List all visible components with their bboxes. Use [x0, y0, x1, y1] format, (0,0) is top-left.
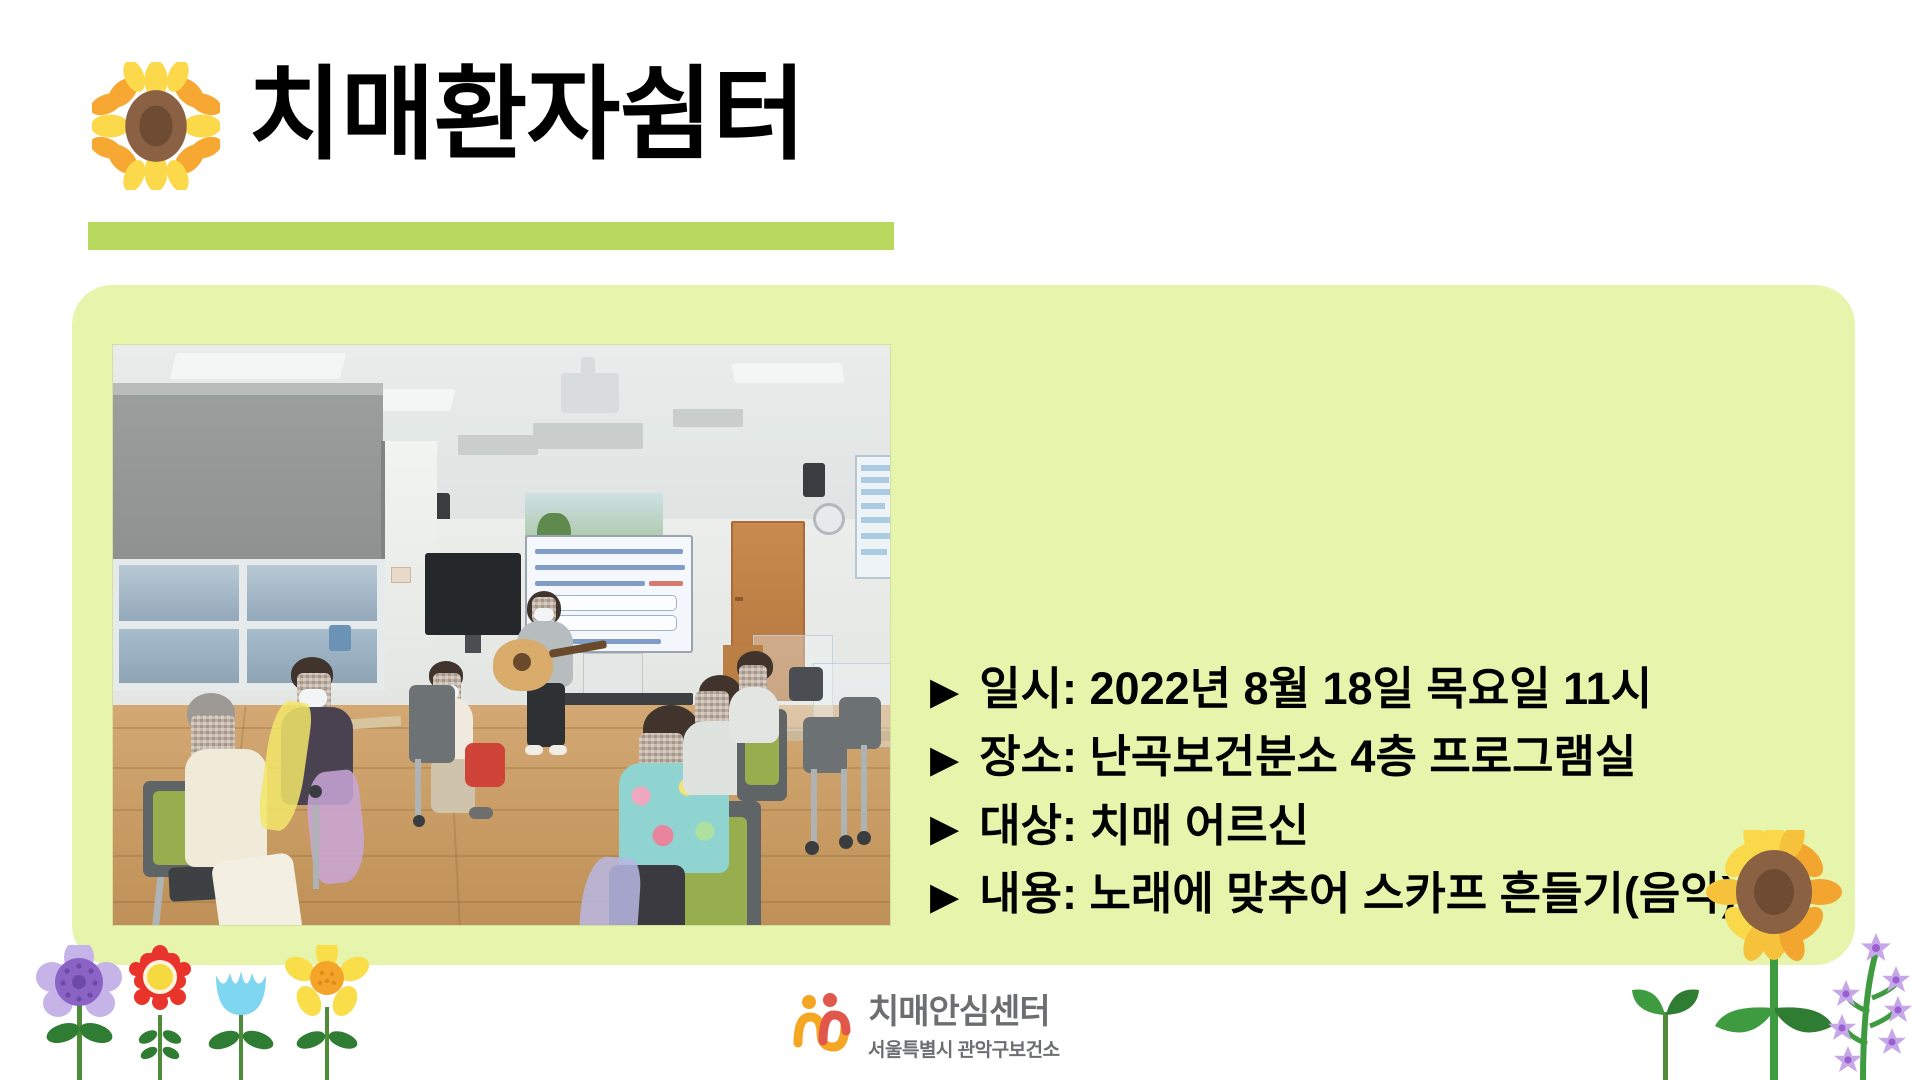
sprout-icon — [1632, 990, 1699, 1080]
logo-subtitle: 서울특별시 관악구보건소 — [868, 1035, 1060, 1062]
chart-row — [861, 533, 890, 539]
senior-body — [185, 749, 267, 867]
footer: 치매안심센터 서울특별시 관악구보건소 — [0, 930, 1920, 1080]
wall-clock — [813, 503, 845, 535]
screen-stand — [583, 653, 643, 695]
purple-flower-icon — [36, 945, 122, 1080]
info-item-location: ▶ 장소: 난곡보건분소 4층 프로그램실 — [930, 723, 1830, 791]
chair-leg — [415, 759, 421, 821]
chart-row — [861, 549, 887, 555]
chair-caster — [309, 785, 322, 798]
chair-caster — [805, 841, 819, 855]
yellow-flower-icon — [281, 945, 374, 1080]
screen-box — [547, 595, 677, 611]
logo-title: 치매안심센터 — [868, 984, 1060, 1033]
ceiling-panel — [673, 409, 743, 427]
chair-caster — [839, 835, 853, 849]
tv-monitor — [425, 553, 521, 635]
dementia-center-logo-icon — [790, 991, 854, 1055]
bullet-arrow-icon: ▶ — [930, 878, 959, 916]
bottle — [329, 625, 351, 651]
chair-leg — [811, 769, 817, 845]
window-pane — [119, 629, 239, 683]
chair-caster — [413, 815, 425, 827]
screen-text-line — [535, 549, 683, 554]
ceiling-panel — [458, 435, 538, 455]
red-flower-icon — [129, 945, 191, 1080]
senior-body — [729, 687, 779, 743]
projector — [561, 373, 619, 413]
stacked-chair — [839, 697, 881, 749]
chair-caster — [857, 831, 871, 845]
face-mask — [534, 608, 554, 621]
chart-row — [861, 503, 885, 509]
blue-tulip-icon — [206, 971, 276, 1080]
backpack — [789, 667, 823, 701]
projector-mount — [581, 357, 595, 375]
info-item-text: 장소: 난곡보건분소 4층 프로그램실 — [979, 723, 1636, 791]
shoe — [525, 745, 543, 755]
header: 치매환자쉼터 — [0, 0, 1920, 270]
wall-speaker — [803, 463, 825, 497]
info-item-datetime: ▶ 일시: 2022년 8월 18일 목요일 11시 — [930, 655, 1830, 723]
wall-chart — [855, 455, 890, 579]
chart-row — [861, 465, 890, 471]
ceiling-vent — [533, 423, 643, 449]
tv-stand — [465, 635, 481, 653]
footer-logo: 치매안심센터 서울특별시 관악구보건소 — [790, 984, 1060, 1062]
guitar-soundhole — [513, 653, 531, 671]
info-item-text: 일시: 2022년 8월 18일 목요일 11시 — [979, 655, 1652, 723]
window-pane — [119, 565, 239, 621]
chair-leg — [841, 769, 847, 839]
bullet-arrow-icon: ▶ — [930, 810, 959, 848]
shoe — [549, 745, 567, 755]
program-photo — [113, 345, 890, 925]
sunflower-icon — [1706, 830, 1842, 1080]
slide: 치매환자쉼터 — [0, 0, 1920, 1080]
red-bag — [465, 743, 505, 787]
chart-row — [861, 477, 889, 483]
window-pane — [247, 565, 377, 621]
chair-leg — [861, 745, 867, 837]
sunflower-icon — [92, 62, 220, 190]
chart-row — [861, 489, 890, 495]
title-underline-bar — [88, 222, 894, 250]
ceiling-light — [731, 363, 845, 383]
bullet-arrow-icon: ▶ — [930, 741, 959, 779]
instructor-pants — [527, 683, 565, 747]
shoe — [469, 807, 493, 819]
ceiling-light — [170, 353, 346, 379]
footer-flowers-right — [1620, 830, 1920, 1080]
screen-text-line — [535, 581, 645, 586]
door-handle — [735, 597, 743, 601]
chair-leg — [313, 805, 319, 889]
bullet-arrow-icon: ▶ — [930, 673, 959, 711]
wall-sign — [391, 567, 411, 583]
page-title: 치매환자쉼터 — [248, 52, 805, 180]
info-item-text: 대상: 치매 어르신 — [979, 792, 1309, 860]
screen-text-line — [535, 565, 685, 570]
equipment-base — [543, 693, 693, 705]
window-blind — [113, 395, 383, 567]
senior-legs — [211, 852, 306, 925]
purple-bellflower-stalk-icon — [1828, 933, 1912, 1080]
footer-flowers-left — [30, 945, 410, 1080]
screen-text-highlight — [649, 581, 683, 586]
chart-row — [861, 517, 890, 523]
chair-back — [409, 685, 455, 763]
